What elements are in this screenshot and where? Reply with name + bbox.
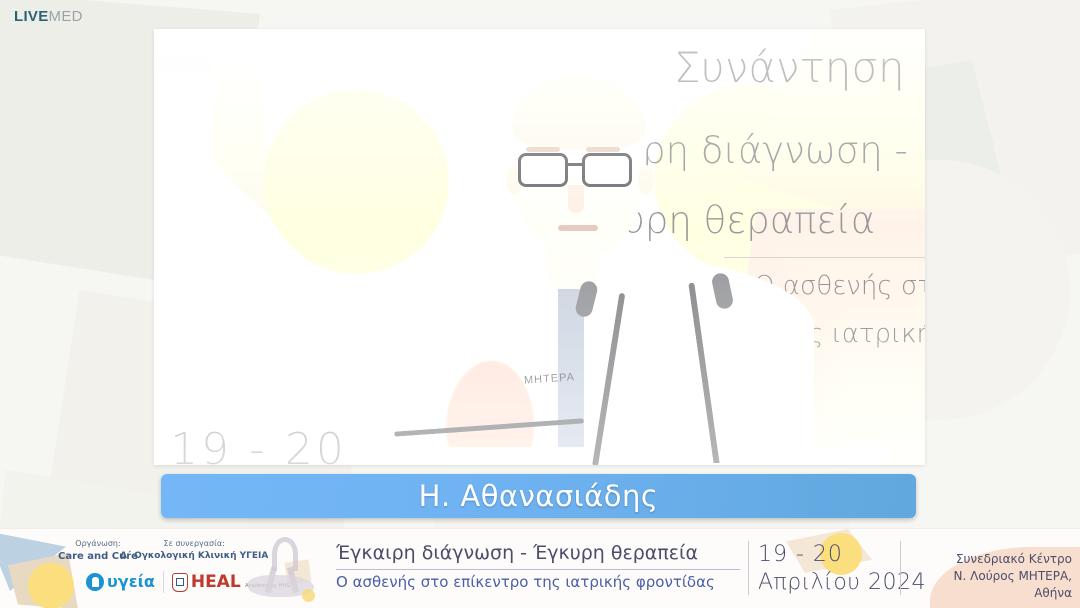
ygeia-logo: υγεία <box>86 573 155 591</box>
logo-divider <box>163 571 164 593</box>
speaker-name-text: Η. Αθανασιάδης <box>419 479 659 513</box>
venue-line-1: Συνεδριακό Κέντρο <box>912 551 1072 568</box>
logo-med-text: MED <box>49 8 83 25</box>
eyeglasses-left-lens <box>518 153 568 187</box>
speaker-mouth <box>558 225 598 231</box>
livemed-logo[interactable]: LIVEMED <box>14 9 83 24</box>
venue-line-2: Ν. Λούρος ΜΗΤΕΡΑ, Αθήνα <box>912 568 1072 602</box>
podium <box>364 453 884 465</box>
podium-keyboard-right <box>664 463 782 465</box>
ygeia-mark-icon <box>86 573 104 591</box>
conference-title-sub: Ο ασθενής στο επίκεντρο της ιατρικής φρο… <box>336 573 740 593</box>
speaker-nose <box>568 185 584 213</box>
ribbon-loop <box>272 537 298 571</box>
backdrop-dates: 19 - 20 <box>170 424 347 465</box>
video-player[interactable]: Συνάντηση Έγκαιρη διάγνωση - Έγκυρη θερα… <box>154 29 925 465</box>
conference-title-main: Έγκαιρη διάγνωση - Έγκυρη θεραπεία <box>336 541 740 566</box>
ribbon-decor-dot <box>302 589 315 602</box>
backdrop-title-line1: Συνάντηση <box>674 43 905 92</box>
eyeglasses-bridge <box>568 163 582 166</box>
conference-footer-bar: Οργάνωση: Care and Cure Σε συνεργασία: Δ… <box>0 528 1080 608</box>
conference-title-divider <box>336 569 740 570</box>
awareness-ribbon-icon <box>246 535 320 605</box>
speaker-badge <box>750 381 776 415</box>
speaker-eyebrow-left <box>526 147 560 152</box>
ygeia-logo-text: υγεία <box>107 574 155 590</box>
backdrop-divider <box>724 257 925 258</box>
video-frame: Συνάντηση Έγκαιρη διάγνωση - Έγκυρη θερα… <box>154 29 925 465</box>
footer-divider-1 <box>748 541 749 595</box>
footer-venue-block: Συνεδριακό Κέντρο Ν. Λούρος ΜΗΤΕΡΑ, Αθήν… <box>912 551 1072 601</box>
heal-shield-icon <box>172 573 188 592</box>
eyeglasses-right-lens <box>582 153 632 187</box>
heal-logo-text: HEAL <box>191 572 241 592</box>
page-root: LIVEMED Συνάντηση Έγκαιρη διάγνωση - Έγκ… <box>0 0 1080 608</box>
speaker-eyebrow-right <box>586 147 620 152</box>
backdrop-sun-left <box>264 89 449 274</box>
speaker-name-banner: Η. Αθανασιάδης <box>161 474 916 518</box>
logo-live-text: LIVE <box>14 8 49 25</box>
footer-decor-circle-yellow-left <box>28 563 74 608</box>
footer-conference-title: Έγκαιρη διάγνωση - Έγκυρη θεραπεία Ο ασθ… <box>336 541 740 592</box>
footer-divider-2 <box>900 541 901 595</box>
speaker-ear-right <box>638 165 654 195</box>
